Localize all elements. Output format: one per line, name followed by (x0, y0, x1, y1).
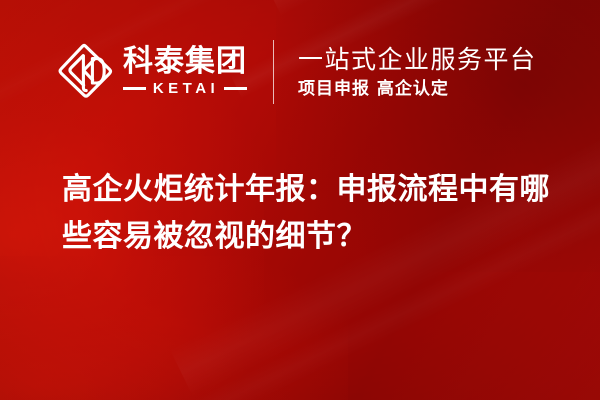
brand-name-en-row: KETAI (123, 80, 247, 97)
brand-name-en: KETAI (146, 80, 224, 97)
tagline-primary: 一站式企业服务平台 (298, 45, 537, 74)
tagline-block: 一站式企业服务平台 项目申报 高企认定 (298, 39, 537, 105)
brand-header: 科泰集团 KETAI 一站式企业服务平台 项目申报 高企认定 (58, 36, 537, 108)
brand-logo[interactable]: 科泰集团 KETAI (58, 43, 247, 101)
rule-right (224, 87, 247, 90)
page-title: 高企火炬统计年报：申报流程中有哪些容易被忽视的细节？ (62, 166, 562, 260)
ketai-diamond-kd-logo-icon (58, 43, 114, 101)
tagline-secondary: 项目申报 高企认定 (298, 79, 537, 99)
header-divider (273, 40, 274, 104)
brand-wordmark: 科泰集团 KETAI (123, 43, 247, 101)
brand-name-cn: 科泰集团 (123, 47, 247, 78)
promo-banner: 科泰集团 KETAI 一站式企业服务平台 项目申报 高企认定 高企火炬统计年报：… (0, 0, 600, 400)
rule-left (123, 87, 146, 90)
